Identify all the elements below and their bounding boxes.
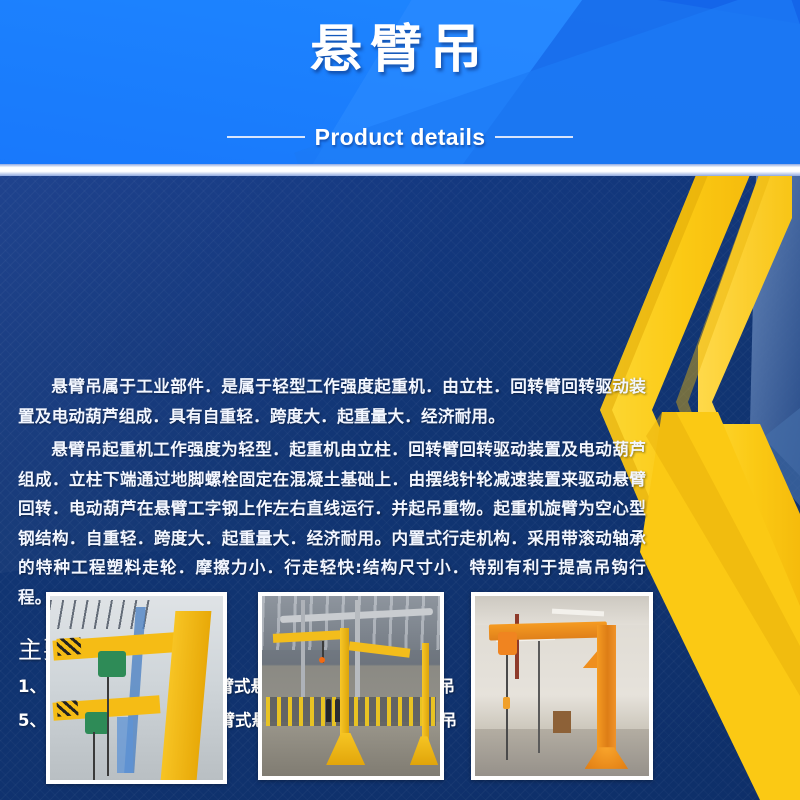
paragraph-1: 悬臂吊属于工业部件．是属于轻型工作强度起重机．由立柱．回转臂回转驱动装置及电动葫… (18, 372, 646, 431)
page-title: 悬臂吊 (0, 14, 800, 86)
product-photo-2[interactable] (258, 592, 444, 780)
product-photo-1[interactable] (46, 592, 227, 784)
product-photo-gallery (0, 592, 800, 792)
photo-3-image (475, 596, 649, 776)
photo-1-image (50, 596, 223, 780)
header-content: 悬臂吊 Product details (0, 0, 800, 166)
paragraph-2: 悬臂吊起重机工作强度为轻型．起重机由立柱．回转臂回转驱动装置及电动葫芦组成．立柱… (18, 435, 646, 612)
product-photo-3[interactable] (471, 592, 653, 780)
header-banner: 悬臂吊 Product details (0, 0, 800, 166)
page-subtitle: Product details (315, 124, 486, 150)
subtitle-group: Product details (0, 124, 800, 150)
photo-2-image (262, 596, 440, 776)
description-paragraphs: 悬臂吊属于工业部件．是属于轻型工作强度起重机．由立柱．回转臂回转驱动装置及电动葫… (18, 372, 646, 616)
product-detail-banner: 悬臂吊 Product details (0, 0, 800, 800)
subtitle-rule-left (227, 136, 305, 138)
header-divider (0, 164, 800, 176)
subtitle-rule-right (495, 136, 573, 138)
